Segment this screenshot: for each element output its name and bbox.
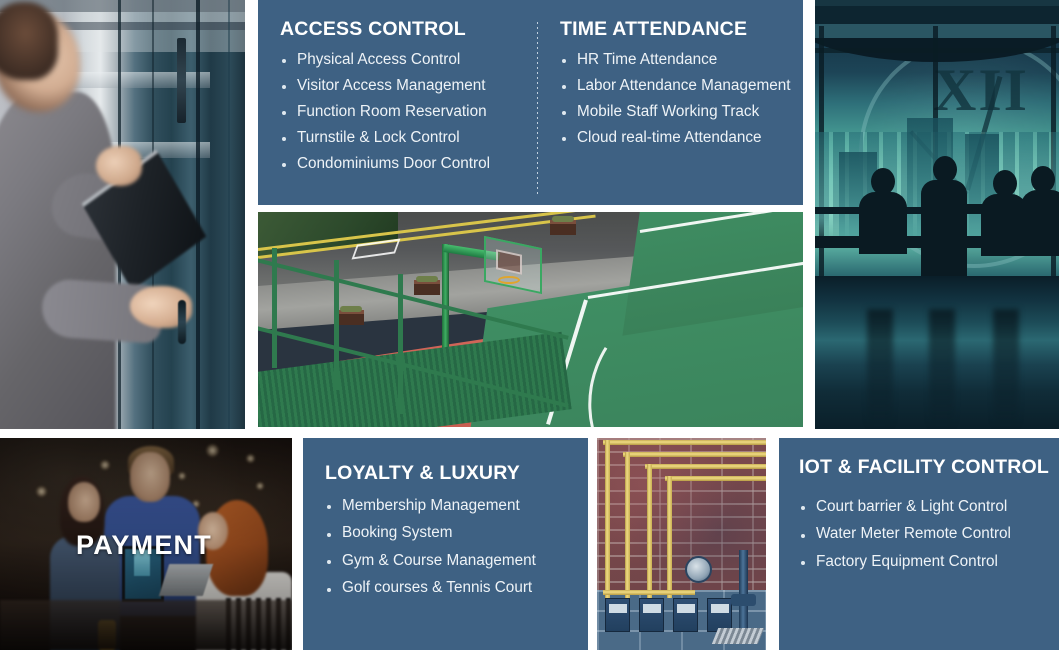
- person-head: [1031, 166, 1055, 193]
- list-item[interactable]: Water Meter Remote Control: [799, 524, 1051, 544]
- gas-meter: [639, 598, 664, 632]
- list-item[interactable]: Court barrier & Light Control: [799, 497, 1051, 517]
- gas-pipe-horizontal: [665, 476, 766, 481]
- gas-meter: [605, 598, 630, 632]
- iot-facility-list: Court barrier & Light Control Water Mete…: [799, 497, 1051, 572]
- fence-post: [272, 248, 277, 368]
- person-body: [921, 180, 967, 284]
- business-meeting-silhouette-photo: XII: [815, 0, 1059, 429]
- person-head: [993, 170, 1017, 197]
- floor-grate: [712, 628, 764, 644]
- gas-meter: [673, 598, 698, 632]
- loyalty-luxury-panel: LOYALTY & LUXURY Membership Management B…: [303, 438, 588, 650]
- person-head: [871, 168, 895, 195]
- gas-pipe-horizontal: [603, 440, 766, 445]
- payment-overlay-title: PAYMENT: [76, 530, 212, 561]
- clock-numeral-twelve: XII: [933, 56, 1029, 125]
- iot-facility-title: IOT & FACILITY CONTROL: [799, 456, 1051, 479]
- shutoff-valve: [731, 594, 756, 606]
- window-transom: [815, 48, 1059, 53]
- person-body: [1021, 190, 1059, 256]
- hand-holding-folder: [96, 146, 142, 186]
- loyalty-luxury-list: Membership Management Booking System Gym…: [325, 496, 578, 599]
- floor-reflection: [929, 309, 955, 429]
- sports-court-aerial-photo: [258, 212, 803, 427]
- planter-box: [338, 310, 364, 325]
- gas-pipe-vertical: [647, 464, 652, 598]
- list-item[interactable]: Visitor Access Management: [280, 76, 530, 96]
- person-head: [933, 156, 957, 183]
- gas-pipe-horizontal: [623, 452, 766, 457]
- person-body: [859, 192, 907, 254]
- list-item[interactable]: Function Room Reservation: [280, 102, 530, 122]
- gas-pipe-vertical: [667, 476, 672, 598]
- list-item[interactable]: Factory Equipment Control: [799, 552, 1051, 572]
- payment-checkout-photo: PAYMENT: [0, 438, 292, 650]
- time-attendance-column: TIME ATTENDANCE HR Time Attendance Labor…: [560, 18, 792, 154]
- list-item[interactable]: Labor Attendance Management: [560, 76, 792, 96]
- time-attendance-list: HR Time Attendance Labor Attendance Mana…: [560, 50, 792, 148]
- access-control-list: Physical Access Control Visitor Access M…: [280, 50, 530, 174]
- fence-post: [334, 260, 339, 390]
- iot-facility-control-panel: IOT & FACILITY CONTROL Court barrier & L…: [779, 438, 1059, 650]
- solutions-overview-board: ACCESS CONTROL Physical Access Control V…: [0, 0, 1059, 650]
- pressure-gauge-dial: [685, 556, 712, 583]
- list-item[interactable]: Membership Management: [325, 496, 578, 516]
- list-item[interactable]: Gym & Course Management: [325, 551, 578, 571]
- list-item[interactable]: Condominiums Door Control: [280, 154, 530, 174]
- list-item[interactable]: Booking System: [325, 523, 578, 543]
- access-control-title: ACCESS CONTROL: [280, 18, 530, 41]
- businesswoman-body: [0, 92, 116, 429]
- column-divider: [537, 22, 538, 194]
- fence-post: [398, 274, 403, 414]
- gas-meter: [707, 598, 732, 632]
- planter-box: [550, 220, 576, 235]
- gas-pipe-vertical: [605, 440, 610, 598]
- gas-pipe-manifold: [603, 590, 695, 595]
- floor-reflection: [867, 309, 893, 429]
- gas-pipe-vertical: [625, 452, 630, 598]
- list-item[interactable]: HR Time Attendance: [560, 50, 792, 70]
- perimeter-fence-mesh: [258, 332, 572, 427]
- planter-box: [414, 280, 440, 295]
- door-handle: [178, 300, 186, 344]
- list-item[interactable]: Physical Access Control: [280, 50, 530, 70]
- gas-pipe-horizontal: [645, 464, 766, 469]
- list-item[interactable]: Golf courses & Tennis Court: [325, 578, 578, 598]
- access-and-time-panel: ACCESS CONTROL Physical Access Control V…: [258, 0, 803, 205]
- list-item[interactable]: Mobile Staff Working Track: [560, 102, 792, 122]
- time-attendance-title: TIME ATTENDANCE: [560, 18, 792, 41]
- list-item[interactable]: Turnstile & Lock Control: [280, 128, 530, 148]
- card-reader-icon: [177, 38, 186, 123]
- floor-reflection: [993, 309, 1019, 429]
- businesswoman-hair: [0, 2, 58, 80]
- access-control-door-photo: [0, 0, 245, 429]
- access-control-column: ACCESS CONTROL Physical Access Control V…: [280, 18, 530, 180]
- loyalty-luxury-title: LOYALTY & LUXURY: [325, 462, 578, 485]
- list-item[interactable]: Cloud real-time Attendance: [560, 128, 792, 148]
- basketball-hoop: [498, 276, 520, 284]
- utility-meters-photo: [597, 438, 766, 650]
